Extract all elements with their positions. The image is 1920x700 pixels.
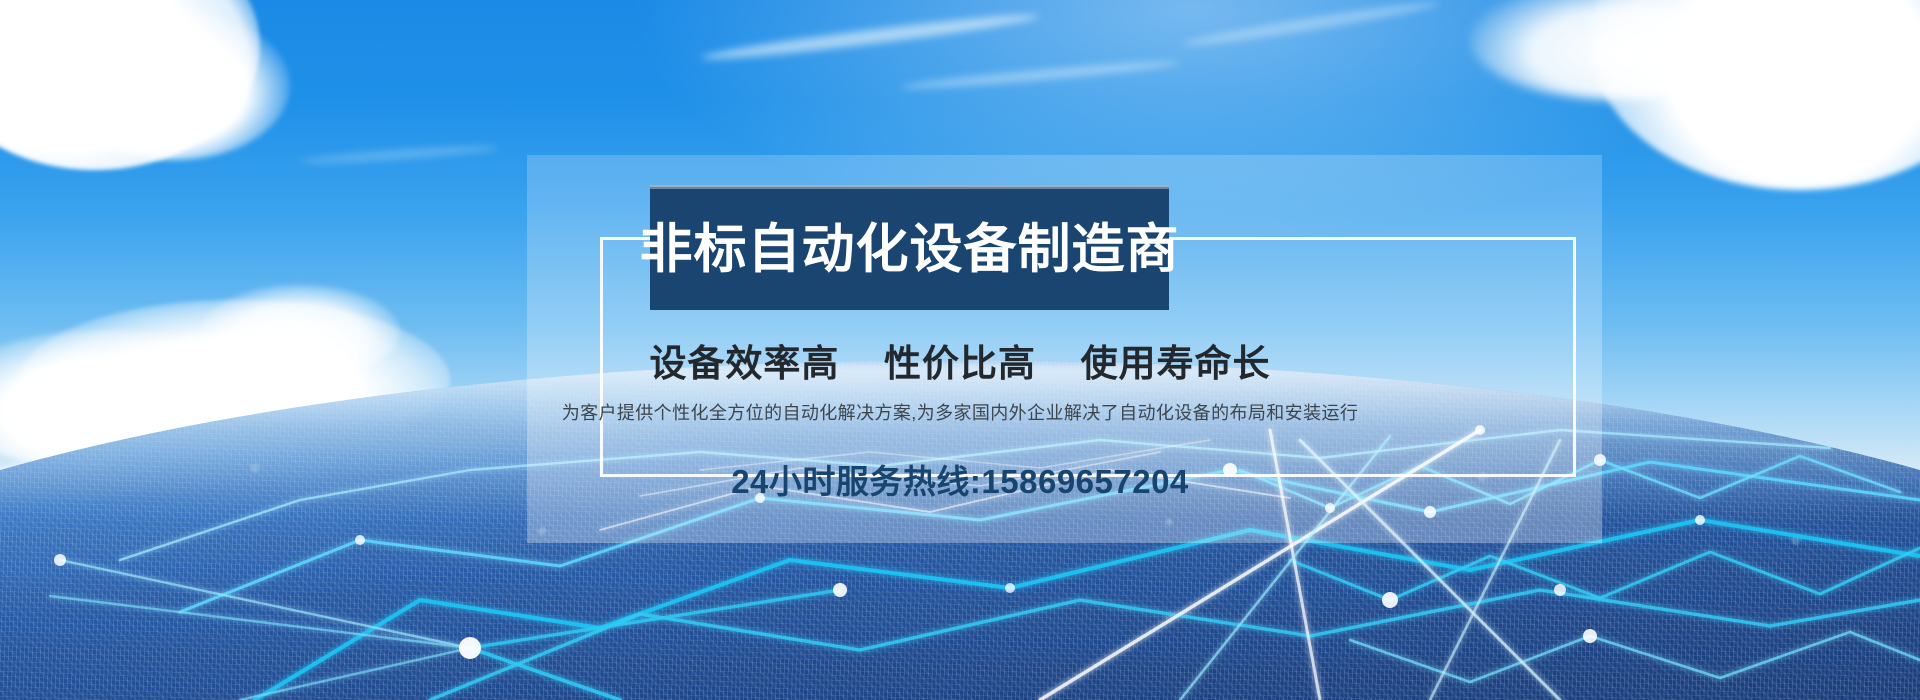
hotline-number: 15869657204 — [981, 463, 1188, 500]
headline-badge: 非标自动化设备制造商 — [650, 185, 1169, 310]
promotional-banner: 非标自动化设备制造商 设备效率高 性价比高 使用寿命长 为客户提供个性化全方位的… — [0, 0, 1920, 700]
subtitle-part-1: 设备效率高 — [649, 343, 839, 384]
hotline-text: 24小时服务热线:15869657204 — [0, 455, 1920, 503]
hotline-label: 24小时服务热线: — [731, 463, 981, 500]
description-text: 为客户提供个性化全方位的自动化解决方案,为多家国内外企业解决了自动化设备的布局和… — [0, 399, 1920, 425]
page-title: 非标自动化设备制造商 — [640, 223, 1180, 276]
subtitle-part-2: 性价比高 — [884, 343, 1036, 384]
subtitle-line: 设备效率高 性价比高 使用寿命长 — [0, 333, 1920, 387]
subtitle-part-3: 使用寿命长 — [1081, 343, 1271, 384]
headline-badge-top-edge — [650, 185, 1169, 189]
